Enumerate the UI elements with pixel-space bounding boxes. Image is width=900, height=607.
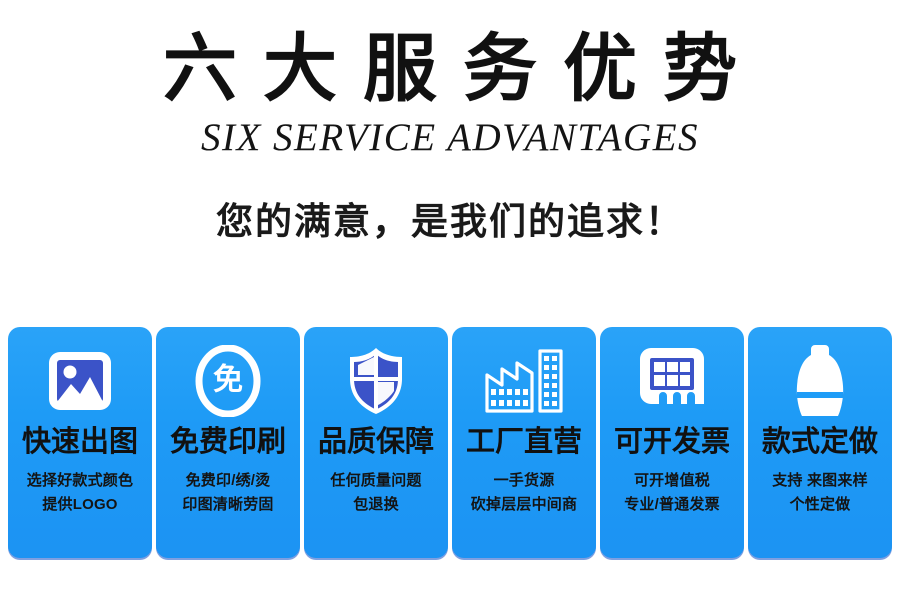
card-subtitle-line1: 任何质量问题 (330, 469, 421, 493)
card-subtitle-line2: 包退换 (330, 493, 421, 517)
page-subtitle-english: SIX SERVICE ADVANTAGES (0, 116, 900, 160)
advantage-card[interactable]: 快速出图 选择好款式颜色 提供LOGO (8, 327, 152, 558)
factory-icon (483, 347, 565, 415)
card-subtitle: 免费印/绣/烫 印图清晰劳固 (182, 469, 273, 517)
card-title: 可开发票 (614, 425, 730, 459)
shield-quality-icon (345, 345, 407, 417)
card-subtitle-line1: 选择好款式颜色 (27, 469, 133, 493)
card-title: 工厂直营 (466, 425, 582, 459)
card-title: 免费印刷 (170, 425, 286, 459)
card-title: 款式定做 (762, 425, 878, 459)
card-subtitle-line2: 提供LOGO (27, 493, 133, 517)
icon-container (638, 335, 706, 427)
page-title: 六大服务优势 (0, 26, 900, 112)
free-stamp-icon: 免 (195, 345, 261, 417)
icon-container: 免 (195, 335, 261, 427)
card-subtitle-line1: 一手货源 (471, 469, 577, 493)
card-subtitle: 选择好款式颜色 提供LOGO (27, 469, 133, 517)
invoice-receipt-icon (638, 346, 706, 416)
card-subtitle-line2: 砍掉层层中间商 (471, 493, 577, 517)
card-subtitle: 任何质量问题 包退换 (330, 469, 421, 517)
mannequin-icon (794, 342, 846, 420)
card-title: 快速出图 (22, 425, 138, 459)
icon-container (47, 335, 113, 427)
card-subtitle-line2: 印图清晰劳固 (182, 493, 273, 517)
page-tagline: 您的满意，是我们的追求！ (0, 198, 900, 246)
card-subtitle: 一手货源 砍掉层层中间商 (471, 469, 577, 517)
page-header: 六大服务优势 SIX SERVICE ADVANTAGES 您的满意，是我们的追… (0, 0, 900, 246)
advantage-card[interactable]: 品质保障 任何质量问题 包退换 (304, 327, 448, 558)
advantage-card[interactable]: 可开发票 可开增值税 专业/普通发票 (600, 327, 744, 558)
advantage-card[interactable]: 免 免费印刷 免费印/绣/烫 印图清晰劳固 (156, 327, 300, 558)
icon-container (483, 335, 565, 427)
card-subtitle-line1: 免费印/绣/烫 (182, 469, 273, 493)
advantage-card[interactable]: 款式定做 支持 来图来样 个性定做 (748, 327, 892, 558)
card-subtitle-line1: 可开增值税 (624, 469, 720, 493)
card-subtitle-line1: 支持 来图来样 (772, 469, 868, 493)
card-title: 品质保障 (318, 425, 434, 459)
free-stamp-character: 免 (213, 365, 243, 395)
card-subtitle: 支持 来图来样 个性定做 (772, 469, 868, 517)
image-photo-icon (47, 350, 113, 412)
icon-container (345, 335, 407, 427)
icon-container (794, 335, 846, 427)
advantage-card-row: 快速出图 选择好款式颜色 提供LOGO 免 免费印刷 免费印/绣/烫 印图清晰劳… (8, 327, 892, 558)
card-subtitle: 可开增值税 专业/普通发票 (624, 469, 720, 517)
card-subtitle-line2: 专业/普通发票 (624, 493, 720, 517)
card-subtitle-line2: 个性定做 (772, 493, 868, 517)
advantage-card[interactable]: 工厂直营 一手货源 砍掉层层中间商 (452, 327, 596, 558)
